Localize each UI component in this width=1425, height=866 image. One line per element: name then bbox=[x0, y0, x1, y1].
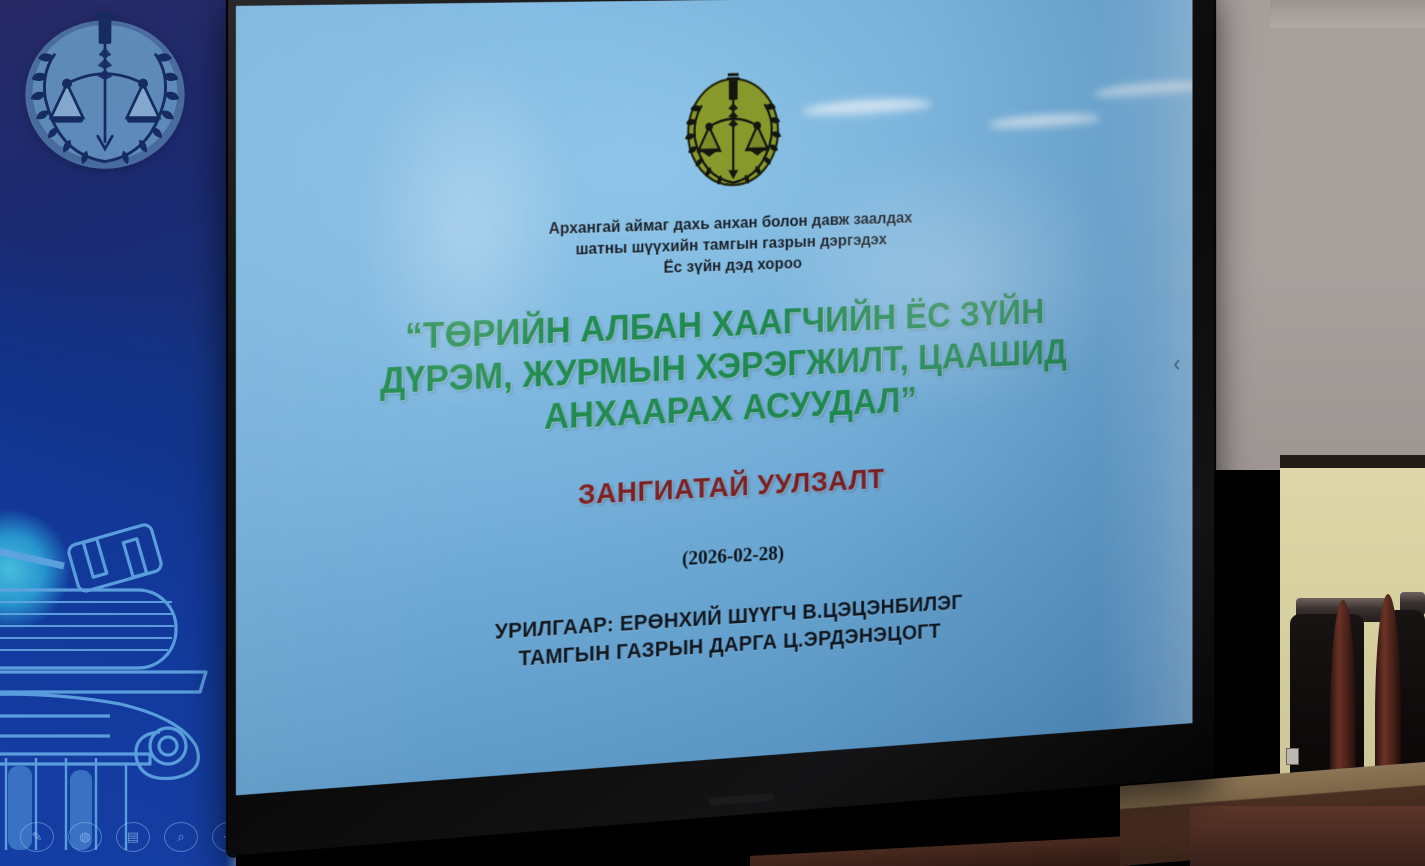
eraser-icon[interactable]: ◍ bbox=[68, 822, 102, 852]
pen-icon[interactable]: ✎ bbox=[20, 822, 54, 852]
wall-banner: ✎ ◍ ▤ ⌕ ⋯ bbox=[0, 0, 236, 866]
side-panel-toggle[interactable]: ‹ bbox=[1173, 351, 1180, 375]
display-bezel: Архангай аймаг дахь анхан болон давж заа… bbox=[228, 0, 1214, 856]
slide-meeting-title: ЗАНГИАТАЙ УУЛЗАЛТ bbox=[578, 463, 885, 512]
display-screen[interactable]: Архангай аймаг дахь анхан болон давж заа… bbox=[236, 0, 1193, 795]
mongolian-judiciary-emblem bbox=[14, 4, 196, 176]
wall-socket bbox=[1286, 748, 1299, 765]
table-back bbox=[750, 836, 1130, 866]
mongolian-judiciary-emblem-olive bbox=[678, 68, 787, 193]
conference-room-scene: ✎ ◍ ▤ ⌕ ⋯ bbox=[0, 0, 1425, 866]
interactive-display[interactable]: Архангай аймаг дахь анхан болон давж заа… bbox=[228, 0, 1214, 856]
slide-date: (2026-02-28) bbox=[682, 541, 784, 571]
ceiling-strip bbox=[1270, 0, 1425, 28]
apps-icon[interactable]: ▤ bbox=[116, 822, 150, 852]
gavel-and-column-illustration bbox=[0, 520, 236, 850]
slide-invitation: УРИЛГААР: ЕРӨНХИЙ ШҮҮГЧ В.ЦЭЦЭНБИЛЭГ ТАМ… bbox=[495, 588, 963, 674]
display-toolbar[interactable]: ✎ ◍ ▤ ⌕ ⋯ bbox=[20, 816, 236, 858]
search-icon[interactable]: ⌕ bbox=[164, 822, 198, 852]
display-brand-logo bbox=[710, 793, 774, 806]
table-foreground-front bbox=[1190, 806, 1425, 866]
